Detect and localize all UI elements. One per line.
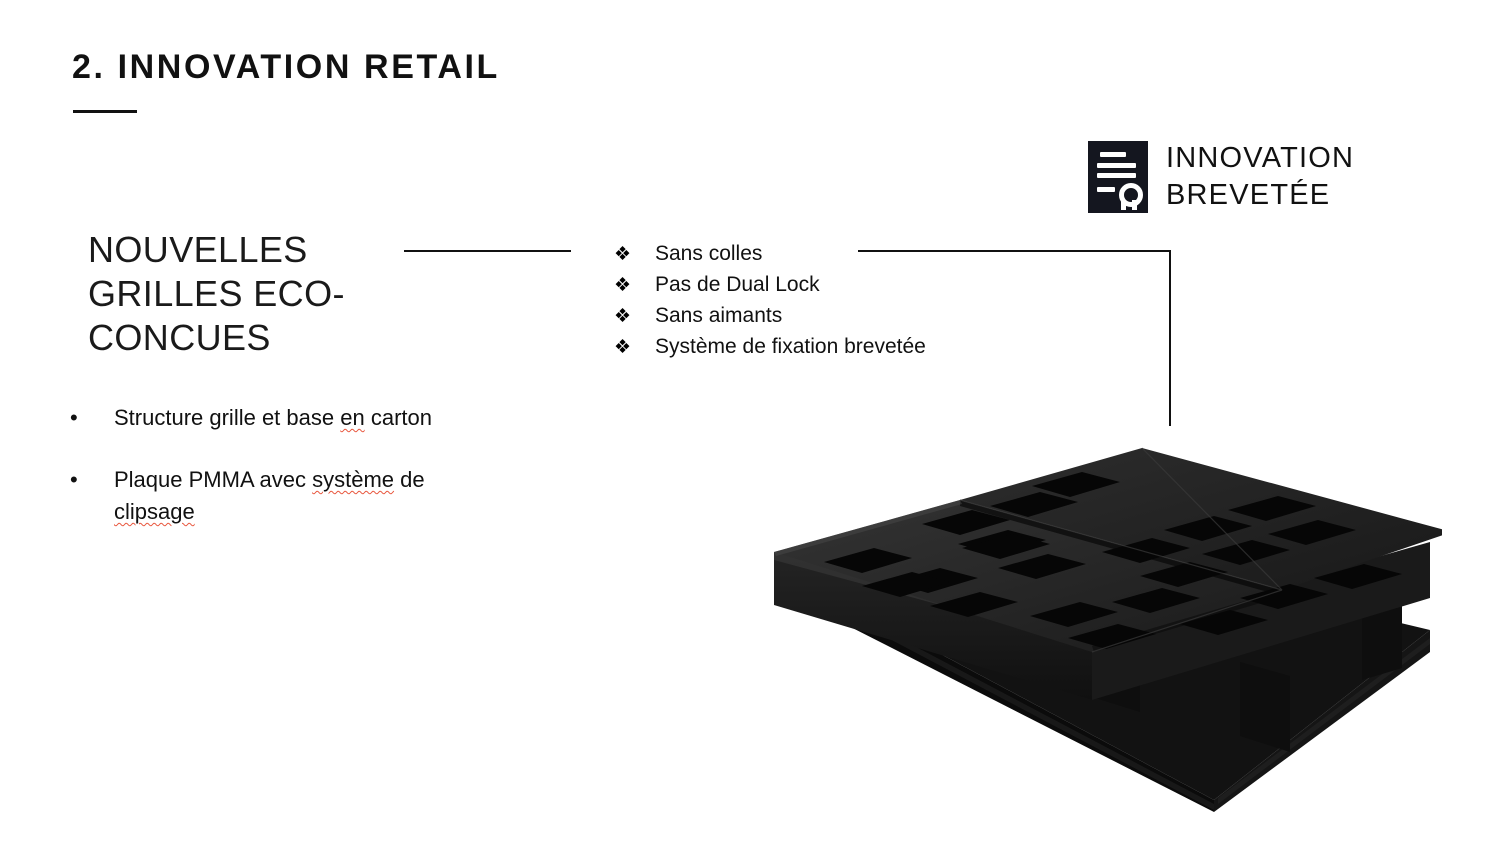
misspelled-word: clipsage	[114, 499, 195, 524]
patent-badge-line-2: BREVETÉE	[1166, 177, 1354, 214]
connector-line-heading-to-features	[404, 250, 571, 252]
list-item: • Structure grille et base en carton	[70, 402, 470, 434]
seal-ring-icon	[1119, 183, 1143, 207]
product-illustration	[762, 400, 1442, 812]
feature-list: ❖ Sans colles ❖ Pas de Dual Lock ❖ Sans …	[614, 240, 1034, 364]
feature-label: Sans aimants	[655, 302, 782, 329]
certificate-line-2	[1097, 163, 1136, 168]
dot-bullet-icon: •	[70, 464, 114, 496]
list-item: • Plaque PMMA avec système de clipsage	[70, 464, 470, 528]
patent-badge-text: INNOVATION BREVETÉE	[1166, 140, 1354, 214]
title-underline-rule	[73, 110, 137, 113]
dot-bullet-icon: •	[70, 402, 114, 434]
page-title: 2. INNOVATION RETAIL	[72, 48, 500, 87]
feature-label: Sans colles	[655, 240, 762, 267]
list-item: ❖ Pas de Dual Lock	[614, 271, 1034, 298]
patent-certificate-icon	[1088, 141, 1148, 213]
certificate-line-1	[1100, 152, 1126, 157]
detail-list: • Structure grille et base en carton • P…	[70, 402, 470, 558]
certificate-line-3	[1097, 173, 1136, 178]
misspelled-word: système	[312, 467, 394, 492]
diamond-bullet-icon: ❖	[614, 303, 655, 330]
list-item: ❖ Système de fixation brevetée	[614, 333, 1034, 360]
list-item: ❖ Sans colles	[614, 240, 1034, 267]
certificate-line-4	[1097, 187, 1115, 192]
list-item: ❖ Sans aimants	[614, 302, 1034, 329]
detail-text-part: de	[394, 467, 425, 492]
feature-label: Pas de Dual Lock	[655, 271, 820, 298]
patent-badge: INNOVATION BREVETÉE	[1088, 140, 1354, 214]
detail-text-part: Structure grille et base	[114, 405, 340, 430]
misspelled-word: en	[340, 405, 364, 430]
detail-text-part: carton	[365, 405, 432, 430]
detail-text: Plaque PMMA avec système de clipsage	[114, 464, 444, 528]
product-image	[762, 400, 1442, 812]
detail-text-part: Plaque PMMA avec	[114, 467, 312, 492]
detail-text: Structure grille et base en carton	[114, 402, 432, 434]
diamond-bullet-icon: ❖	[614, 334, 655, 361]
diamond-bullet-icon: ❖	[614, 272, 655, 299]
feature-label: Système de fixation brevetée	[655, 333, 926, 360]
section-heading: NOUVELLES GRILLES ECO-CONCUES	[88, 228, 388, 360]
diamond-bullet-icon: ❖	[614, 241, 655, 268]
patent-badge-line-1: INNOVATION	[1166, 140, 1354, 177]
